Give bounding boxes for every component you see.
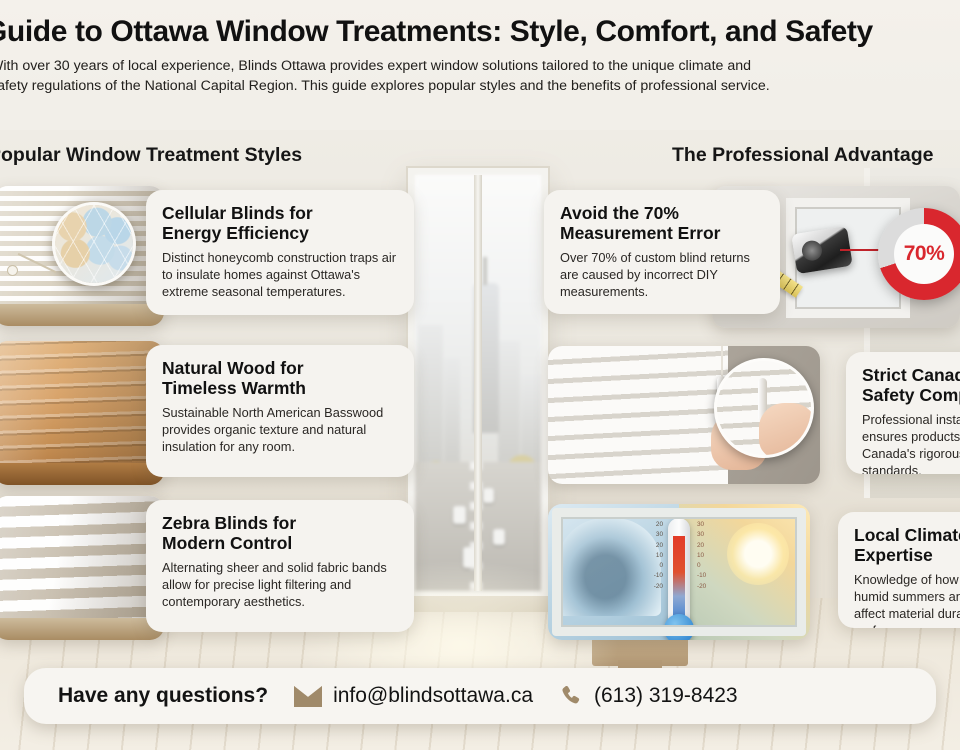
style-card-cellular-title-1: Cellular Blinds for <box>162 203 313 223</box>
advantage-card-measurement-title-1: Avoid the 70% <box>560 203 679 223</box>
page-subtitle-line2: safety regulations of the National Capit… <box>0 77 960 97</box>
advantage-card-measurement-body: Over 70% of custom blind returns are cau… <box>560 249 764 300</box>
contact-email-text: info@blindsottawa.ca <box>333 684 533 708</box>
wand-magnifier-icon <box>714 358 814 458</box>
center-window <box>408 168 548 598</box>
white-blinds-photo <box>548 346 820 484</box>
advantage-card-climate[interactable]: Local Climate Expertise Knowledge of how… <box>838 512 960 628</box>
advantage-card-safety-title-1: Strict Canadian <box>862 365 960 385</box>
advantage-card-climate-body: Knowledge of how Ottawa's humid summers … <box>854 571 960 628</box>
section-heading-styles: Popular Window Treatment Styles <box>0 144 302 167</box>
contact-email[interactable]: info@blindsottawa.ca <box>294 684 533 708</box>
style-card-wood-body: Sustainable North American Basswood prov… <box>162 404 398 455</box>
donut-center-label: 70% <box>904 242 945 266</box>
style-card-zebra[interactable]: Zebra Blinds for Modern Control Alternat… <box>146 500 414 632</box>
style-card-wood-title-2: Timeless Warmth <box>162 378 306 398</box>
advantage-card-climate-title: Local Climate Expertise <box>854 525 960 565</box>
advantage-card-safety-title-2: Safety Compliance <box>862 385 960 405</box>
contact-bar: Have any questions? info@blindsottawa.ca… <box>24 668 936 724</box>
style-card-zebra-title-1: Zebra Blinds for <box>162 513 296 533</box>
advantage-card-safety-body: Professional installation ensures produc… <box>862 411 960 474</box>
climate-thermometer-photo: 203020100-10-20 303020100-10-20 <box>548 504 810 640</box>
cellular-blind-photo <box>0 186 164 326</box>
zebra-blind-photo <box>0 496 164 640</box>
thermometer-scale-right: 303020100-10-20 <box>697 520 725 592</box>
contact-phone[interactable]: (613) 319-8423 <box>559 684 738 708</box>
wood-blind-photo <box>0 341 164 485</box>
advantage-card-measurement[interactable]: Avoid the 70% Measurement Error Over 70%… <box>544 190 780 314</box>
page-subtitle-line1: With over 30 years of local experience, … <box>0 57 960 77</box>
window-mullion <box>474 175 482 591</box>
contact-question: Have any questions? <box>58 684 268 708</box>
measurement-error-donut-chart: 70% <box>878 208 960 300</box>
thermometer-scale-left: 203020100-10-20 <box>635 520 663 592</box>
style-card-cellular-title-2: Energy Efficiency <box>162 223 309 243</box>
advantage-card-safety[interactable]: Strict Canadian Safety Compliance Profes… <box>846 352 960 474</box>
style-card-wood-title-1: Natural Wood for <box>162 358 304 378</box>
header: Guide to Ottawa Window Treatments: Style… <box>0 0 960 130</box>
thermometer-icon <box>668 518 690 622</box>
style-card-cellular-body: Distinct honeycomb construction traps ai… <box>162 249 398 300</box>
advantage-card-measurement-title-2: Measurement Error <box>560 223 720 243</box>
envelope-icon <box>294 686 322 707</box>
style-card-cellular[interactable]: Cellular Blinds for Energy Efficiency Di… <box>146 190 414 315</box>
style-card-wood[interactable]: Natural Wood for Timeless Warmth Sustain… <box>146 345 414 477</box>
phone-icon <box>559 684 583 708</box>
style-card-zebra-title-2: Modern Control <box>162 533 292 553</box>
sun-icon <box>727 523 789 585</box>
honeycomb-magnifier-icon <box>52 202 136 286</box>
style-card-zebra-body: Alternating sheer and solid fabric bands… <box>162 559 398 610</box>
contact-phone-text: (613) 319-8423 <box>594 684 738 708</box>
page-title: Guide to Ottawa Window Treatments: Style… <box>0 16 960 48</box>
section-heading-advantage: The Professional Advantage <box>672 144 934 167</box>
